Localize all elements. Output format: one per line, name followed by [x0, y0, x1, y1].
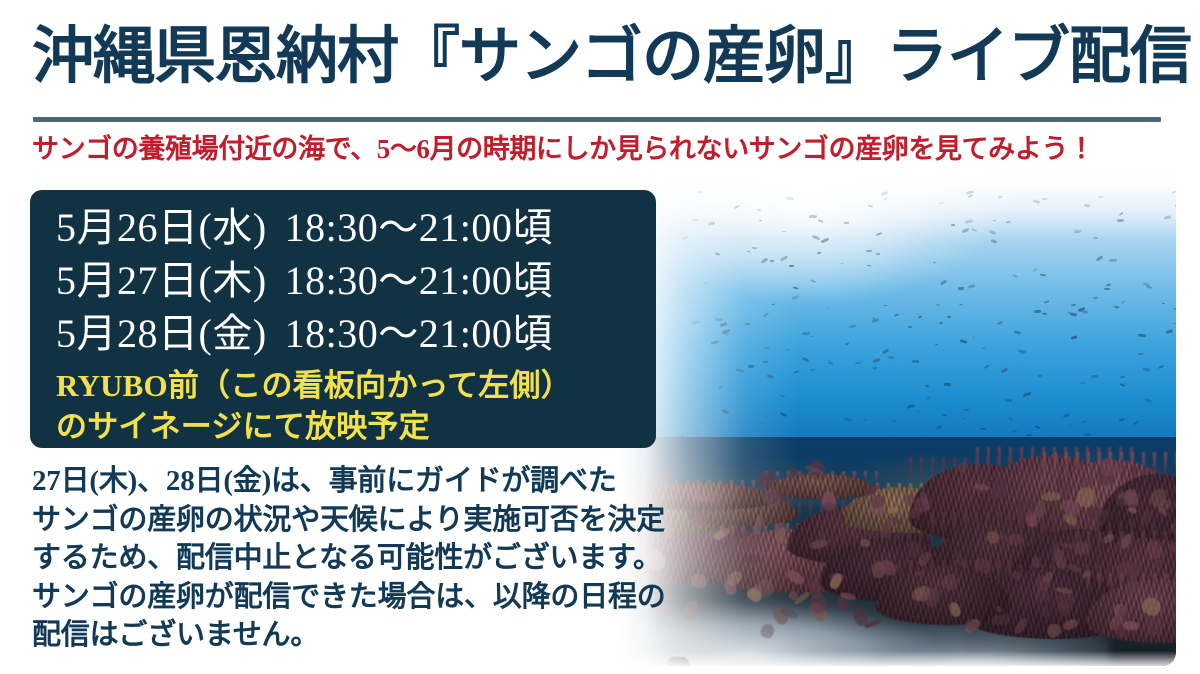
- poster-title: 沖縄県恩納村『サンゴの産卵』ライブ配信: [32, 26, 1172, 88]
- poster-content: 沖縄県恩納村『サンゴの産卵』ライブ配信 サンゴの養殖場付近の海で、5〜6月の時期…: [0, 0, 1200, 674]
- title-divider: [33, 117, 1161, 122]
- venue-line-2: のサイネージにて放映予定: [56, 407, 656, 447]
- note-line: 配信はございません。: [32, 616, 672, 655]
- schedule-row: 5月28日(金)18:30〜21:00頃: [56, 308, 656, 361]
- poster-root: 沖縄県恩納村『サンゴの産卵』ライブ配信 サンゴの養殖場付近の海で、5〜6月の時期…: [0, 0, 1200, 674]
- note-line: 27日(木)、28日(金)は、事前にガイドが調べた: [32, 462, 672, 501]
- disclaimer-note: 27日(木)、28日(金)は、事前にガイドが調べた サンゴの産卵の状況や天候によ…: [32, 462, 672, 655]
- schedule-row: 5月27日(木)18:30〜21:00頃: [56, 255, 656, 308]
- note-line: サンゴの産卵が配信できた場合は、以降の日程の: [32, 578, 672, 617]
- note-line: サンゴの産卵の状況や天候により実施可否を決定: [32, 501, 672, 540]
- venue-line-1: RYUBO前（この看板向かって左側）: [56, 366, 656, 406]
- schedule-time: 18:30〜21:00頃: [285, 258, 553, 303]
- schedule-date: 5月26日(水): [56, 205, 267, 250]
- schedule-time: 18:30〜21:00頃: [285, 311, 553, 356]
- schedule-date: 5月27日(木): [56, 258, 267, 303]
- poster-subtitle: サンゴの養殖場付近の海で、5〜6月の時期にしか見られないサンゴの産卵を見てみよう…: [32, 134, 1172, 165]
- note-line: するため、配信中止となる可能性がございます。: [32, 539, 672, 578]
- schedule-row: 5月26日(水)18:30〜21:00頃: [56, 202, 656, 255]
- schedule-date: 5月28日(金): [56, 311, 267, 356]
- schedule-box: 5月26日(水)18:30〜21:00頃 5月27日(木)18:30〜21:00…: [30, 190, 656, 448]
- schedule-time: 18:30〜21:00頃: [285, 205, 553, 250]
